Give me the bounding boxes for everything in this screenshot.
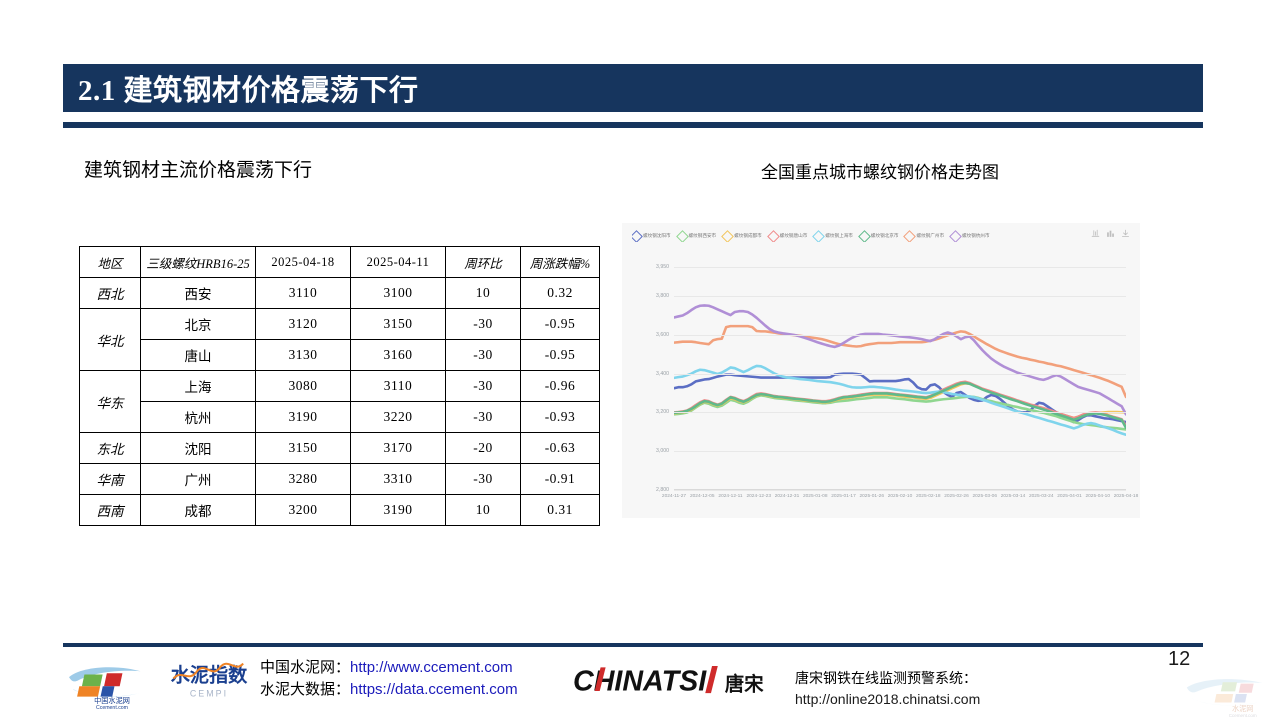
legend-marker-icon bbox=[676, 230, 689, 242]
legend-item[interactable]: 螺纹钢成都市 bbox=[723, 232, 762, 241]
table-row: 西南成都32003190100.31 bbox=[80, 495, 600, 526]
cell-city: 西安 bbox=[141, 278, 256, 309]
table-row: 唐山31303160-30-0.95 bbox=[80, 340, 600, 371]
chart-y-tick-label: 3,200 bbox=[656, 409, 669, 415]
chinatsi-logo: CHINATSI 唐宋 bbox=[573, 660, 788, 702]
chart-x-tick-label: 2024-12-05 bbox=[690, 494, 715, 499]
slide-root: 2.1 建筑钢材价格震荡下行 建筑钢材主流价格震荡下行 全国重点城市螺纹钢价格走… bbox=[0, 0, 1280, 720]
cempi-sub-text: CEMPI bbox=[190, 688, 228, 698]
cell-wow-pct: -0.96 bbox=[521, 371, 600, 402]
chart-y-tick-label: 2,800 bbox=[656, 487, 669, 493]
legend-marker-icon bbox=[767, 230, 780, 242]
col-header-product: 三级螺纹HRB16-25 bbox=[141, 247, 256, 278]
col-header-region: 地区 bbox=[80, 247, 141, 278]
legend-label: 螺纹钢上海市 bbox=[825, 233, 853, 239]
download-icon[interactable] bbox=[1121, 229, 1130, 238]
legend-item[interactable]: 螺纹钢上海市 bbox=[814, 232, 853, 241]
footer-link-row[interactable]: 水泥大数据：https://data.ccement.com bbox=[260, 679, 518, 701]
cell-price-current: 3110 bbox=[256, 278, 351, 309]
cell-wow-pct: -0.95 bbox=[521, 309, 600, 340]
cell-region: 华北 bbox=[80, 309, 141, 371]
col-header-date-current: 2025-04-18 bbox=[256, 247, 351, 278]
cell-region: 西南 bbox=[80, 495, 141, 526]
cell-wow-pct: -0.95 bbox=[521, 340, 600, 371]
legend-label: 螺纹钢杭州市 bbox=[962, 233, 990, 239]
chart-gridline bbox=[674, 267, 1126, 268]
cell-wow-pct: 0.31 bbox=[521, 495, 600, 526]
chart-gridline bbox=[674, 451, 1126, 452]
table-row: 杭州31903220-30-0.93 bbox=[80, 402, 600, 433]
cell-city: 广州 bbox=[141, 464, 256, 495]
legend-item[interactable]: 螺纹钢唐山市 bbox=[769, 232, 808, 241]
legend-label: 螺纹钢北京市 bbox=[871, 233, 899, 239]
cell-city: 成都 bbox=[141, 495, 256, 526]
cell-price-previous: 3190 bbox=[351, 495, 446, 526]
cell-wow-change: -20 bbox=[446, 433, 521, 464]
cell-wow-change: 10 bbox=[446, 495, 521, 526]
cell-price-previous: 3100 bbox=[351, 278, 446, 309]
legend-marker-icon bbox=[721, 230, 734, 242]
cell-price-current: 3190 bbox=[256, 402, 351, 433]
footer-link-label: 中国水泥网： bbox=[260, 659, 350, 676]
table-row: 东北沈阳31503170-20-0.63 bbox=[80, 433, 600, 464]
cell-region: 西北 bbox=[80, 278, 141, 309]
table-row: 华南广州32803310-30-0.91 bbox=[80, 464, 600, 495]
ccement-brand-text: 中国水泥网 bbox=[94, 696, 130, 705]
chart-x-tick-label: 2025-02-18 bbox=[916, 494, 941, 499]
legend-marker-icon bbox=[949, 230, 962, 242]
chart-x-tick-label: 2025-01-26 bbox=[859, 494, 884, 499]
col-header-wow-pct: 周涨跌幅% bbox=[521, 247, 600, 278]
footer-link-row[interactable]: 中国水泥网：http://www.ccement.com bbox=[260, 657, 518, 679]
chart-plot-area: 2024-11-272024-12-052024-12-112024-12-23… bbox=[674, 267, 1126, 490]
chart-x-tick-label: 2025-04-10 bbox=[1085, 494, 1110, 499]
chart-x-tick-labels: 2024-11-272024-12-052024-12-112024-12-23… bbox=[674, 490, 1126, 506]
chart-toolbar[interactable] bbox=[1091, 229, 1130, 238]
cell-city: 唐山 bbox=[141, 340, 256, 371]
steel-price-table: 地区 三级螺纹HRB16-25 2025-04-18 2025-04-11 周环… bbox=[79, 246, 600, 526]
ccement-logo: 中国水泥网 Ccement.com bbox=[66, 655, 158, 711]
table-row: 西北西安31103100100.32 bbox=[80, 278, 600, 309]
chart-y-tick-label: 3,800 bbox=[656, 293, 669, 299]
cell-price-previous: 3220 bbox=[351, 402, 446, 433]
chart-y-tick-label: 3,600 bbox=[656, 332, 669, 338]
chart-caption: 全国重点城市螺纹钢价格走势图 bbox=[761, 158, 999, 183]
legend-item[interactable]: 螺纹钢沈阳市 bbox=[632, 232, 671, 241]
ccement-watermark-logo: 水泥网 Ccement.com bbox=[1185, 668, 1277, 720]
chart-series-svg bbox=[674, 267, 1126, 490]
title-underline-rule bbox=[63, 122, 1203, 128]
chart-y-tick-label: 3,950 bbox=[656, 264, 669, 270]
cell-region: 华东 bbox=[80, 371, 141, 433]
chart-legend[interactable]: 螺纹钢沈阳市螺纹钢西安市螺纹钢成都市螺纹钢唐山市螺纹钢上海市螺纹钢北京市螺纹钢广… bbox=[632, 230, 1070, 242]
cell-price-current: 3200 bbox=[256, 495, 351, 526]
cell-wow-change: -30 bbox=[446, 309, 521, 340]
cell-wow-change: -30 bbox=[446, 402, 521, 433]
cell-wow-pct: 0.32 bbox=[521, 278, 600, 309]
bar-toggle-icon[interactable] bbox=[1106, 229, 1115, 238]
legend-label: 螺纹钢沈阳市 bbox=[643, 233, 671, 239]
cell-price-current: 3280 bbox=[256, 464, 351, 495]
legend-marker-icon bbox=[632, 230, 643, 242]
footer-links-right[interactable]: 唐宋钢铁在线监测预警系统： http://online2018.chinatsi… bbox=[795, 668, 980, 710]
cell-wow-change: -30 bbox=[446, 340, 521, 371]
cell-price-previous: 3170 bbox=[351, 433, 446, 464]
cell-wow-pct: -0.91 bbox=[521, 464, 600, 495]
table-row: 华东上海30803110-30-0.96 bbox=[80, 371, 600, 402]
data-view-icon[interactable] bbox=[1091, 229, 1100, 238]
cell-price-current: 3120 bbox=[256, 309, 351, 340]
legend-marker-icon bbox=[812, 230, 825, 242]
chart-x-tick-label: 2025-02-26 bbox=[944, 494, 969, 499]
legend-label: 螺纹钢广州市 bbox=[916, 233, 944, 239]
legend-item[interactable]: 螺纹钢西安市 bbox=[678, 232, 717, 241]
col-header-date-previous: 2025-04-11 bbox=[351, 247, 446, 278]
cell-price-previous: 3310 bbox=[351, 464, 446, 495]
cell-region: 东北 bbox=[80, 433, 141, 464]
chart-x-tick-label: 2025-03-06 bbox=[972, 494, 997, 499]
cell-price-previous: 3110 bbox=[351, 371, 446, 402]
cell-region: 华南 bbox=[80, 464, 141, 495]
chinatsi-brand-text: CHINATSI bbox=[573, 665, 707, 697]
chart-gridline bbox=[674, 296, 1126, 297]
table-header: 地区 三级螺纹HRB16-25 2025-04-18 2025-04-11 周环… bbox=[80, 247, 600, 278]
chart-x-tick-label: 2024-11-27 bbox=[662, 494, 686, 499]
cempi-logo: 水泥指数 CEMPI bbox=[168, 658, 250, 706]
legend-item[interactable]: 螺纹钢广州市 bbox=[905, 232, 944, 241]
chart-x-tick-label: 2025-03-14 bbox=[1001, 494, 1026, 499]
legend-marker-icon bbox=[904, 230, 917, 242]
chart-x-tick-label: 2025-03-24 bbox=[1029, 494, 1054, 499]
cell-price-current: 3080 bbox=[256, 371, 351, 402]
ccement-domain-text: Ccement.com bbox=[96, 705, 128, 711]
cell-city: 杭州 bbox=[141, 402, 256, 433]
footer-link-label: 水泥大数据： bbox=[260, 681, 350, 698]
chinatsi-cn-text: 唐宋 bbox=[725, 672, 764, 695]
cell-wow-change: -30 bbox=[446, 464, 521, 495]
cell-city: 北京 bbox=[141, 309, 256, 340]
footer-link-url[interactable]: http://www.ccement.com bbox=[350, 659, 513, 676]
watermark-brand-text: 水泥网 bbox=[1232, 704, 1253, 713]
watermark-domain-text: Ccement.com bbox=[1229, 713, 1257, 718]
cell-price-current: 3150 bbox=[256, 433, 351, 464]
chart-gridline bbox=[674, 490, 1126, 491]
cell-wow-pct: -0.93 bbox=[521, 402, 600, 433]
page-title: 2.1 建筑钢材价格震荡下行 bbox=[63, 67, 419, 109]
left-section-caption: 建筑钢材主流价格震荡下行 bbox=[84, 155, 312, 182]
table-row: 华北北京31203150-30-0.95 bbox=[80, 309, 600, 340]
legend-item[interactable]: 螺纹钢杭州市 bbox=[951, 232, 990, 241]
table-header-row: 地区 三级螺纹HRB16-25 2025-04-18 2025-04-11 周环… bbox=[80, 247, 600, 278]
cell-city: 沈阳 bbox=[141, 433, 256, 464]
chart-gridline bbox=[674, 374, 1126, 375]
footer-rule bbox=[63, 643, 1203, 647]
chart-y-tick-label: 3,000 bbox=[656, 448, 669, 454]
chart-x-tick-label: 2024-12-23 bbox=[746, 494, 771, 499]
legend-marker-icon bbox=[858, 230, 871, 242]
cell-price-previous: 3160 bbox=[351, 340, 446, 371]
table-body: 西北西安31103100100.32华北北京31203150-30-0.95唐山… bbox=[80, 278, 600, 526]
legend-label: 螺纹钢西安市 bbox=[689, 233, 717, 239]
chart-x-tick-label: 2025-01-17 bbox=[831, 494, 856, 499]
footer-right-url[interactable]: http://online2018.chinatsi.com bbox=[795, 689, 980, 710]
cell-wow-pct: -0.63 bbox=[521, 433, 600, 464]
footer-links[interactable]: 中国水泥网：http://www.ccement.com 水泥大数据：https… bbox=[260, 657, 518, 701]
legend-item[interactable]: 螺纹钢北京市 bbox=[860, 232, 899, 241]
price-trend-chart[interactable]: 螺纹钢沈阳市螺纹钢西安市螺纹钢成都市螺纹钢唐山市螺纹钢上海市螺纹钢北京市螺纹钢广… bbox=[622, 223, 1140, 518]
chart-y-tick-label: 3,400 bbox=[656, 371, 669, 377]
chart-gridline bbox=[674, 335, 1126, 336]
cell-wow-change: 10 bbox=[446, 278, 521, 309]
cell-wow-change: -30 bbox=[446, 371, 521, 402]
cell-city: 上海 bbox=[141, 371, 256, 402]
chart-x-tick-label: 2024-12-31 bbox=[775, 494, 800, 499]
chart-x-tick-label: 2024-12-11 bbox=[718, 494, 742, 499]
legend-label: 螺纹钢成都市 bbox=[734, 233, 762, 239]
chart-x-tick-label: 2025-04-18 bbox=[1114, 494, 1139, 499]
cell-price-previous: 3150 bbox=[351, 309, 446, 340]
chart-x-tick-label: 2025-02-10 bbox=[888, 494, 913, 499]
chart-x-tick-label: 2025-01-08 bbox=[803, 494, 828, 499]
chart-x-tick-label: 2025-04-01 bbox=[1057, 494, 1082, 499]
cell-price-current: 3130 bbox=[256, 340, 351, 371]
footer-link-url[interactable]: https://data.ccement.com bbox=[350, 681, 518, 698]
legend-label: 螺纹钢唐山市 bbox=[780, 233, 808, 239]
col-header-wow-change: 周环比 bbox=[446, 247, 521, 278]
chart-gridline bbox=[674, 412, 1126, 413]
footer-right-label: 唐宋钢铁在线监测预警系统： bbox=[795, 668, 980, 689]
slide-title-bar: 2.1 建筑钢材价格震荡下行 bbox=[63, 64, 1203, 112]
